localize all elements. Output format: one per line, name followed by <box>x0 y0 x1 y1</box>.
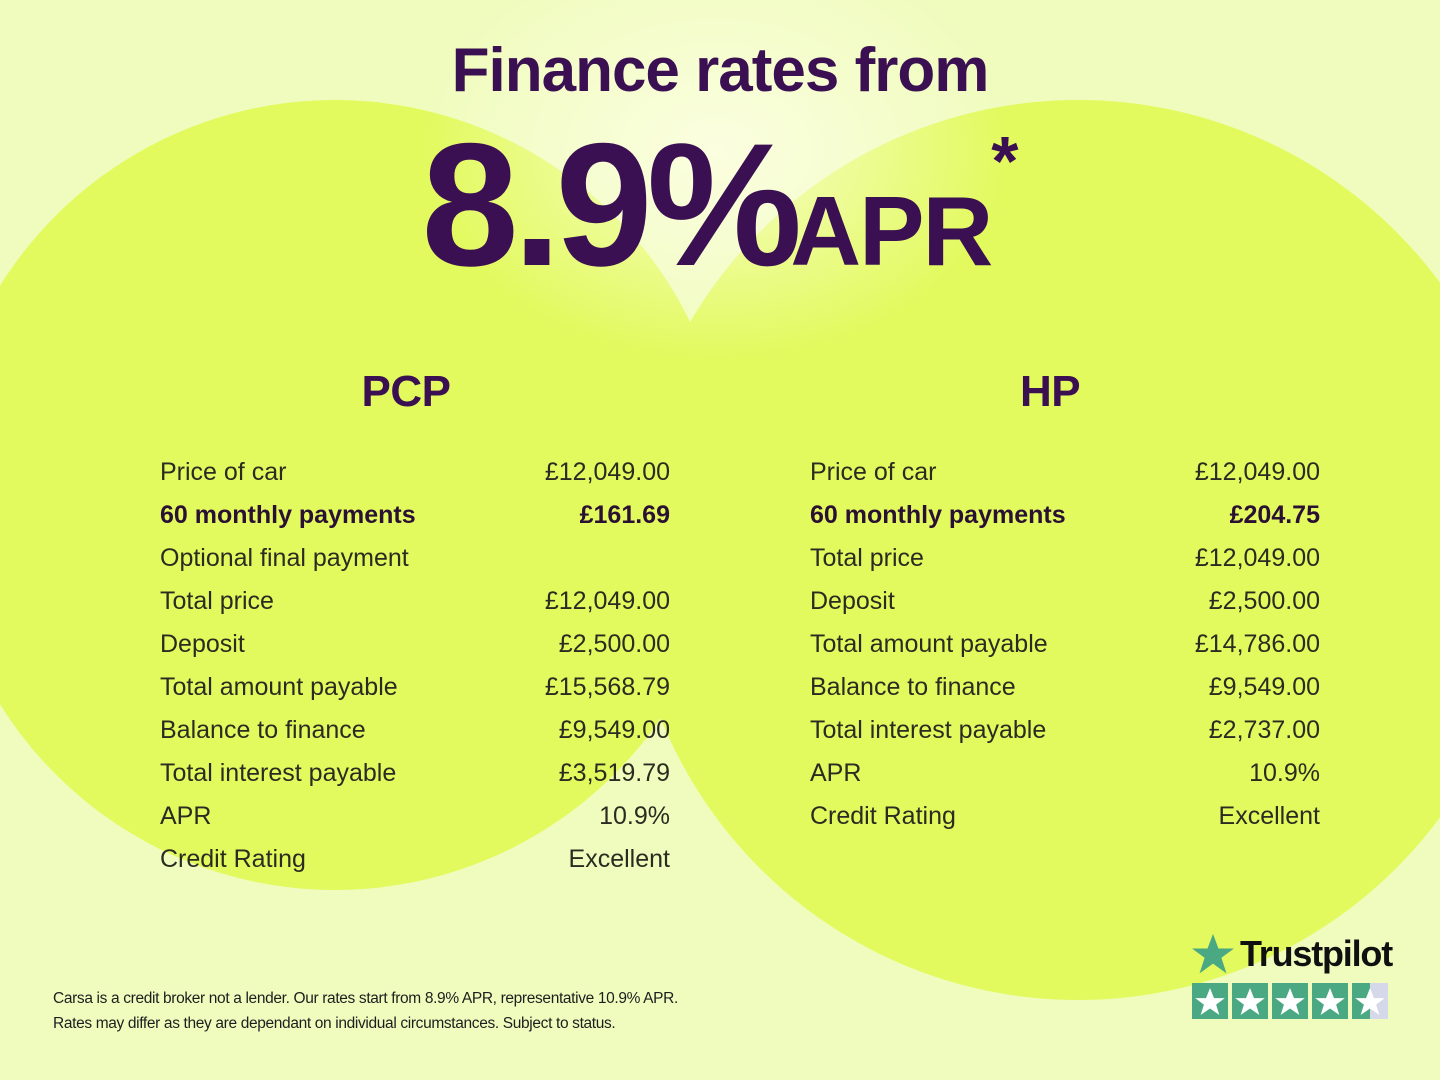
page-title: Finance rates from <box>0 40 1440 102</box>
star-glyph <box>1232 983 1268 1019</box>
rate-value: 8.9% <box>421 108 796 303</box>
table-row: Total interest payable£3,519.79 <box>160 759 670 802</box>
plan-title-hp: HP <box>810 370 1320 414</box>
trustpilot-star-icon <box>1232 983 1268 1019</box>
rate-asterisk: * <box>991 122 1018 200</box>
star-glyph <box>1352 983 1388 1019</box>
table-row: Total amount payable£15,568.79 <box>160 673 670 716</box>
table-row: Optional final payment <box>160 544 670 587</box>
row-label: Price of car <box>810 458 936 487</box>
row-label: Price of car <box>160 458 286 487</box>
headline-rate: 8.9%APR* <box>0 118 1440 293</box>
plan-title-pcp: PCP <box>160 370 670 414</box>
trustpilot-star-icon <box>1312 983 1348 1019</box>
row-value: £2,500.00 <box>1209 587 1320 616</box>
finance-plan-pcp: PCP Price of car£12,049.0060 monthly pay… <box>160 370 670 888</box>
row-value: £2,737.00 <box>1209 716 1320 745</box>
row-label: Total amount payable <box>810 630 1048 659</box>
row-value: £2,500.00 <box>559 630 670 659</box>
trustpilot-star-icon <box>1352 983 1388 1019</box>
row-value: £14,786.00 <box>1195 630 1320 659</box>
trustpilot-star-icon <box>1192 933 1234 975</box>
row-value: 10.9% <box>599 802 670 831</box>
star-glyph <box>1272 983 1308 1019</box>
plan-rows-hp: Price of car£12,049.0060 monthly payment… <box>810 458 1320 845</box>
row-value: £9,549.00 <box>1209 673 1320 702</box>
table-row: Deposit£2,500.00 <box>810 587 1320 630</box>
row-value: £15,568.79 <box>545 673 670 702</box>
row-label: Optional final payment <box>160 544 409 573</box>
row-value: £9,549.00 <box>559 716 670 745</box>
trustpilot-logo: Trustpilot <box>1192 930 1392 978</box>
row-value: Excellent <box>1219 802 1320 831</box>
finance-plan-hp: HP Price of car£12,049.0060 monthly paym… <box>810 370 1320 845</box>
row-label: Total price <box>160 587 274 616</box>
row-label: Balance to finance <box>160 716 366 745</box>
star-glyph <box>1192 983 1228 1019</box>
disclaimer: Carsa is a credit broker not a lender. O… <box>53 986 813 1036</box>
table-row: APR10.9% <box>810 759 1320 802</box>
plan-rows-pcp: Price of car£12,049.0060 monthly payment… <box>160 458 670 888</box>
trustpilot-rating-stars <box>1192 983 1392 1019</box>
rate-unit: APR <box>790 176 991 286</box>
row-value: Excellent <box>569 845 670 874</box>
table-row: Total price£12,049.00 <box>810 544 1320 587</box>
table-row: Balance to finance£9,549.00 <box>160 716 670 759</box>
row-label: Total price <box>810 544 924 573</box>
row-label: Deposit <box>160 630 245 659</box>
row-label: APR <box>160 802 211 831</box>
row-label: Total interest payable <box>810 716 1046 745</box>
row-value: £12,049.00 <box>545 458 670 487</box>
row-label: Credit Rating <box>160 845 306 874</box>
row-label: 60 monthly payments <box>160 501 416 530</box>
row-label: APR <box>810 759 861 788</box>
trustpilot-star-icon <box>1192 983 1228 1019</box>
row-label: Total interest payable <box>160 759 396 788</box>
table-row: 60 monthly payments£204.75 <box>810 501 1320 544</box>
row-label: Balance to finance <box>810 673 1016 702</box>
row-value: 10.9% <box>1249 759 1320 788</box>
row-value: £12,049.00 <box>1195 544 1320 573</box>
table-row: Total price£12,049.00 <box>160 587 670 630</box>
table-row: Credit RatingExcellent <box>160 845 670 888</box>
table-row: Balance to finance£9,549.00 <box>810 673 1320 716</box>
row-value: £204.75 <box>1230 501 1320 530</box>
trustpilot-star-icon <box>1272 983 1308 1019</box>
table-row: APR10.9% <box>160 802 670 845</box>
trustpilot-badge[interactable]: Trustpilot <box>1192 930 1392 1019</box>
row-label: Credit Rating <box>810 802 956 831</box>
table-row: Price of car£12,049.00 <box>160 458 670 501</box>
row-label: Total amount payable <box>160 673 398 702</box>
row-value: £161.69 <box>580 501 670 530</box>
table-row: Deposit£2,500.00 <box>160 630 670 673</box>
row-label: Deposit <box>810 587 895 616</box>
table-row: Total interest payable£2,737.00 <box>810 716 1320 759</box>
star-glyph <box>1312 983 1348 1019</box>
disclaimer-line-2: Rates may differ as they are dependant o… <box>53 1011 813 1036</box>
table-row: Total amount payable£14,786.00 <box>810 630 1320 673</box>
row-value: £12,049.00 <box>545 587 670 616</box>
row-value: £12,049.00 <box>1195 458 1320 487</box>
disclaimer-line-1: Carsa is a credit broker not a lender. O… <box>53 986 813 1011</box>
row-value: £3,519.79 <box>559 759 670 788</box>
table-row: 60 monthly payments£161.69 <box>160 501 670 544</box>
table-row: Price of car£12,049.00 <box>810 458 1320 501</box>
table-row: Credit RatingExcellent <box>810 802 1320 845</box>
trustpilot-wordmark: Trustpilot <box>1240 936 1392 972</box>
row-label: 60 monthly payments <box>810 501 1066 530</box>
